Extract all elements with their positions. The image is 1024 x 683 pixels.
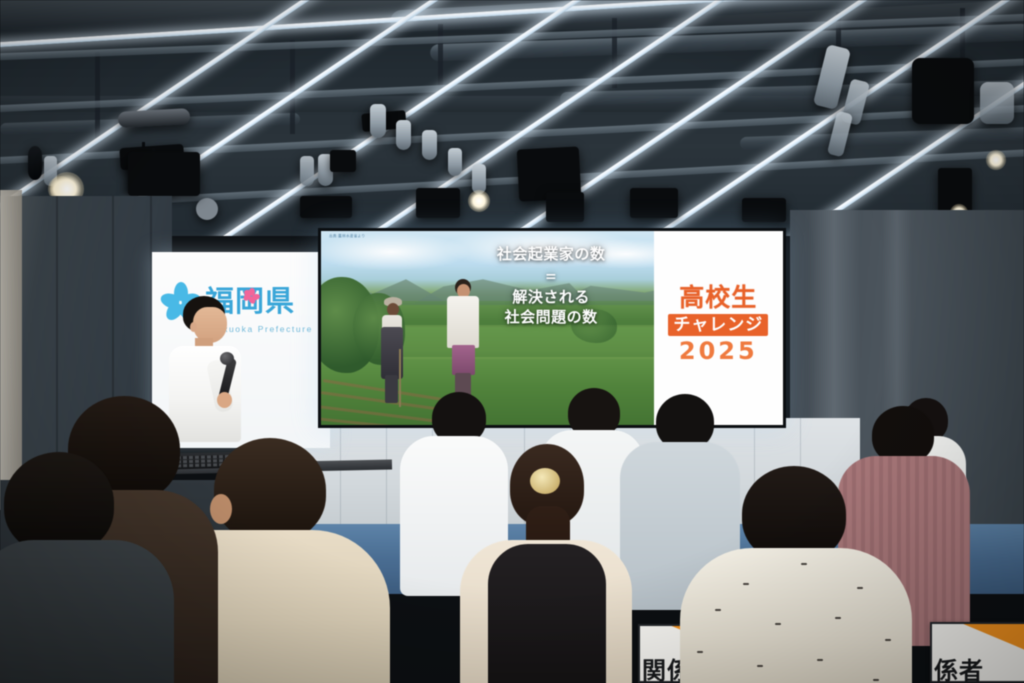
audience-front-center	[680, 466, 912, 683]
head	[214, 438, 326, 542]
event-logo-year: 2025	[668, 339, 768, 363]
stage-light-fixture	[370, 104, 386, 138]
ceiling-rod	[95, 52, 100, 138]
stage-light-fixture	[742, 198, 786, 222]
slide-equals-sign: =	[455, 268, 648, 286]
event-logo-kanji: 高校生	[668, 285, 768, 310]
head	[4, 452, 114, 554]
stage-light-fixture	[196, 198, 218, 220]
presentation-room-scene: 福岡県 Fukuoka Prefecture	[0, 0, 1024, 683]
microphone-head	[220, 352, 234, 365]
slide-line-2: 解決される	[455, 288, 648, 308]
ceiling-rod	[438, 24, 443, 90]
vest	[488, 544, 606, 683]
slide-line-3: 社会問題の数	[455, 308, 648, 328]
stage-light-fixture	[396, 120, 411, 150]
presenter-hand	[217, 392, 232, 408]
event-logo-kana: チャレンジ	[668, 314, 768, 337]
slide-person-left	[379, 297, 405, 405]
stage-light-fixture	[546, 192, 584, 222]
slide-headline: 社会起業家の数 = 解決される 社会問題の数	[455, 245, 648, 328]
light-glow	[468, 190, 490, 212]
shirt-pattern	[680, 548, 912, 683]
stage-light-fixture	[300, 196, 352, 218]
staff-sign-right: 係者	[930, 622, 1024, 683]
slide-source-note: 出典:農林水産省より	[329, 234, 365, 239]
event-logo: 高校生 チャレンジ 2025	[668, 285, 768, 364]
audience-woman-ponytail	[452, 444, 640, 683]
slide-line-1: 社会起業家の数	[455, 245, 648, 265]
stage-light-fixture	[912, 58, 974, 124]
stage-light-fixture	[980, 82, 1014, 124]
ceiling-rod	[290, 40, 295, 134]
stage-light-fixture	[128, 152, 200, 196]
light-glow	[986, 150, 1006, 170]
stage-light-fixture	[28, 146, 42, 180]
stage-light-fixture	[630, 188, 678, 218]
hair-accessory	[530, 468, 560, 494]
audience-front-left-a	[0, 452, 174, 683]
staff-sign-label: 係者	[934, 659, 984, 683]
stage-light-fixture	[448, 148, 462, 176]
stage-light-fixture	[330, 150, 356, 172]
stage-light-fixture	[300, 156, 314, 186]
stage-light-fixture	[416, 188, 460, 218]
presenter-ear	[190, 322, 197, 332]
torso	[0, 540, 174, 683]
stage-light-fixture	[422, 130, 437, 160]
